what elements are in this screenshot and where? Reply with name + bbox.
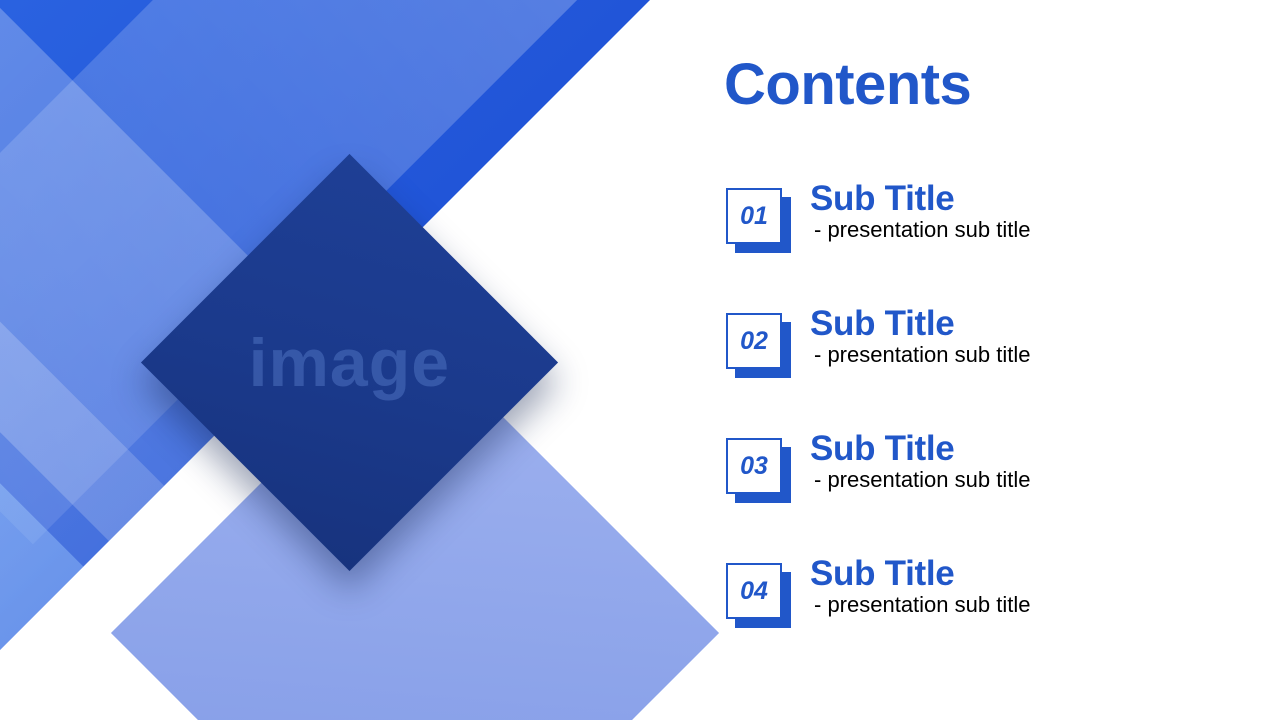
badge-number-label: 01 — [740, 204, 768, 229]
number-badge: 04 — [726, 563, 782, 619]
list-item-subtitle: - presentation sub title — [810, 217, 1280, 243]
list-item-title: Sub Title — [810, 303, 1280, 344]
badge-face-square: 03 — [726, 438, 782, 494]
badge-number-label: 02 — [740, 329, 768, 354]
badge-face-square: 02 — [726, 313, 782, 369]
image-placeholder-label: image — [249, 329, 451, 397]
list-item-subtitle: - presentation sub title — [810, 592, 1280, 618]
number-badge: 02 — [726, 313, 782, 369]
number-badge: 03 — [726, 438, 782, 494]
list-item-subtitle: - presentation sub title — [810, 342, 1280, 368]
list-item-text: Sub Title - presentation sub title — [810, 303, 1280, 369]
list-item[interactable]: 04 Sub Title - presentation sub title — [724, 561, 1280, 686]
list-item-title: Sub Title — [810, 428, 1280, 469]
list-item-text: Sub Title - presentation sub title — [810, 178, 1280, 244]
list-item-text: Sub Title - presentation sub title — [810, 553, 1280, 619]
list-item-subtitle: - presentation sub title — [810, 467, 1280, 493]
page-title: Contents — [724, 56, 971, 114]
list-item[interactable]: 01 Sub Title - presentation sub title — [724, 186, 1280, 311]
contents-list: 01 Sub Title - presentation sub title 02… — [724, 186, 1280, 686]
list-item-title: Sub Title — [810, 553, 1280, 594]
badge-face-square: 04 — [726, 563, 782, 619]
presentation-slide: image Contents 01 Sub Title - presentati… — [0, 0, 1280, 720]
list-item-title: Sub Title — [810, 178, 1280, 219]
list-item-text: Sub Title - presentation sub title — [810, 428, 1280, 494]
content-column: Contents 01 Sub Title - presentation sub… — [724, 0, 1280, 720]
badge-number-label: 03 — [740, 454, 768, 479]
number-badge: 01 — [726, 188, 782, 244]
list-item[interactable]: 03 Sub Title - presentation sub title — [724, 436, 1280, 561]
list-item[interactable]: 02 Sub Title - presentation sub title — [724, 311, 1280, 436]
badge-face-square: 01 — [726, 188, 782, 244]
badge-number-label: 04 — [740, 579, 768, 604]
